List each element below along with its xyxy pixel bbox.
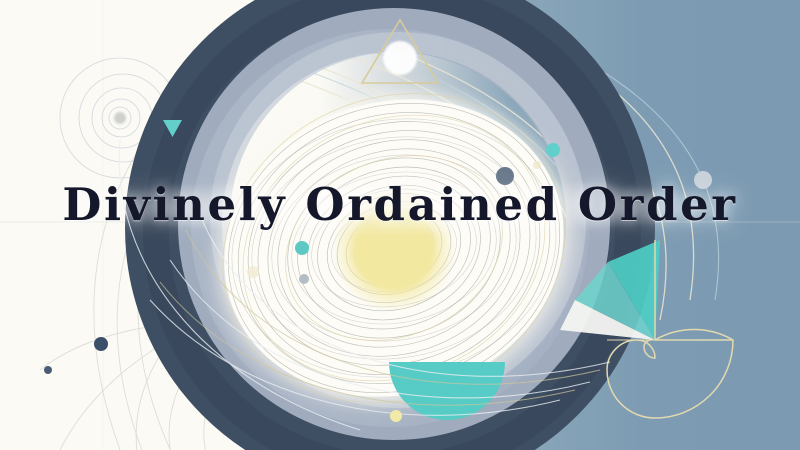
dot-gray-right-edge — [694, 171, 712, 189]
title-glow — [70, 176, 730, 236]
dot-cream-small — [533, 161, 541, 169]
dot-gray-spiral-center — [114, 112, 126, 124]
dot-teal-left — [295, 241, 309, 255]
dot-teal-upper-right — [546, 143, 560, 157]
triangle-inner-circle — [383, 41, 417, 75]
dot-navy-small-bottom-left — [44, 366, 52, 374]
dot-yellow-bottom — [390, 410, 402, 422]
dot-cream-left-low — [247, 266, 259, 278]
dot-slate-upper — [496, 167, 514, 185]
title-card-canvas: Divinely Ordained Order — [0, 0, 800, 450]
background-artwork — [0, 0, 800, 450]
dot-gray-left — [299, 274, 309, 284]
dot-navy-bottom-left — [94, 337, 108, 351]
